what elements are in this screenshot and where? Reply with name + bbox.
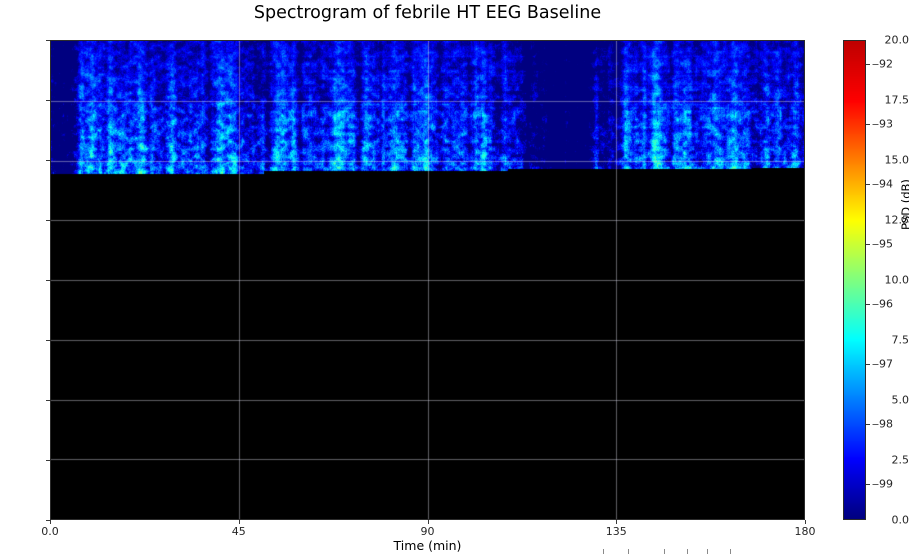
colorbar-gradient <box>843 40 866 520</box>
y-tick-label: 17.5 <box>865 94 909 107</box>
y-tick-label: 5.0 <box>865 394 909 407</box>
x-tick-mark <box>239 520 240 524</box>
artifact-tick-mark <box>687 549 688 554</box>
y-tick-label: 10.0 <box>865 274 909 287</box>
x-tick-label: 90 <box>421 525 435 538</box>
y-tick-mark <box>46 160 50 161</box>
spectrogram-plot-area[interactable] <box>50 40 805 520</box>
page-title: Spectrogram of febrile HT EEG Baseline <box>0 3 855 23</box>
y-tick-mark <box>46 100 50 101</box>
x-tick-label: 0.0 <box>41 525 59 538</box>
artifact-tick-mark <box>664 549 665 554</box>
colorbar-tick-label: ‒94 <box>872 178 893 191</box>
y-tick-label: 7.5 <box>865 334 909 347</box>
x-tick-label: 45 <box>232 525 246 538</box>
y-tick-label: 15.0 <box>865 154 909 167</box>
x-tick-mark <box>428 520 429 524</box>
colorbar-tick-mark <box>866 304 870 305</box>
y-tick-mark <box>46 280 50 281</box>
y-tick-mark <box>46 220 50 221</box>
colorbar-tick-label: ‒92 <box>872 58 893 71</box>
colorbar-label: PSD (dB) <box>899 179 909 230</box>
y-tick-mark <box>46 400 50 401</box>
colorbar-tick-mark <box>866 184 870 185</box>
colorbar-tick-mark <box>866 364 870 365</box>
x-tick-mark <box>805 520 806 524</box>
x-tick-mark <box>50 520 51 524</box>
artifact-tick-mark <box>628 549 629 554</box>
x-tick-label: 135 <box>606 525 627 538</box>
colorbar-tick-mark <box>866 484 870 485</box>
colorbar[interactable]: ‒92‒93‒94‒95‒96‒97‒98‒99 <box>843 40 866 520</box>
y-tick-label: 0.0 <box>865 514 909 527</box>
colorbar-tick-mark <box>866 64 870 65</box>
colorbar-tick-mark <box>866 244 870 245</box>
artifact-tick-mark <box>730 549 731 554</box>
colorbar-tick-label: ‒99 <box>872 478 893 491</box>
colorbar-tick-mark <box>866 124 870 125</box>
x-tick-mark <box>616 520 617 524</box>
artifact-tick-mark <box>603 549 604 554</box>
colorbar-tick-mark <box>866 424 870 425</box>
y-tick-label: 2.5 <box>865 454 909 467</box>
clipped-figure-artifact <box>0 549 909 558</box>
y-tick-mark <box>46 460 50 461</box>
y-tick-label: 20.0 <box>865 34 909 47</box>
spectrogram-image <box>51 41 804 519</box>
colorbar-tick-label: ‒97 <box>872 358 893 371</box>
y-tick-mark <box>46 340 50 341</box>
colorbar-tick-label: ‒96 <box>872 298 893 311</box>
artifact-tick-mark <box>707 549 708 554</box>
colorbar-tick-label: ‒95 <box>872 238 893 251</box>
colorbar-tick-label: ‒93 <box>872 118 893 131</box>
colorbar-tick-label: ‒98 <box>872 418 893 431</box>
figure-canvas: Spectrogram of febrile HT EEG Baseline 0… <box>0 0 909 558</box>
x-tick-label: 180 <box>795 525 816 538</box>
y-tick-mark <box>46 40 50 41</box>
